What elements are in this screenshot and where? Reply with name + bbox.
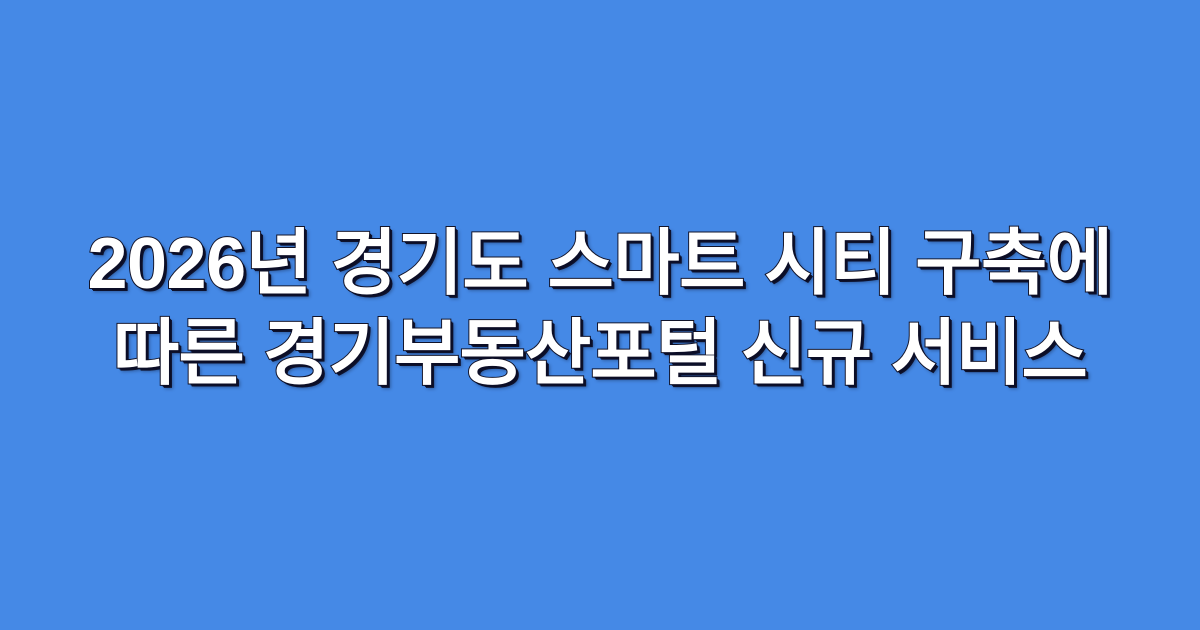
social-share-card: 2026년 경기도 스마트 시티 구축에 따른 경기부동산포털 신규 서비스 bbox=[0, 0, 1200, 630]
headline-line-2: 따른 경기부동산포털 신규 서비스 bbox=[70, 309, 1130, 399]
page-title: 2026년 경기도 스마트 시티 구축에 따른 경기부동산포털 신규 서비스 bbox=[70, 219, 1130, 399]
headline-line-1: 2026년 경기도 스마트 시티 구축에 bbox=[70, 219, 1130, 309]
